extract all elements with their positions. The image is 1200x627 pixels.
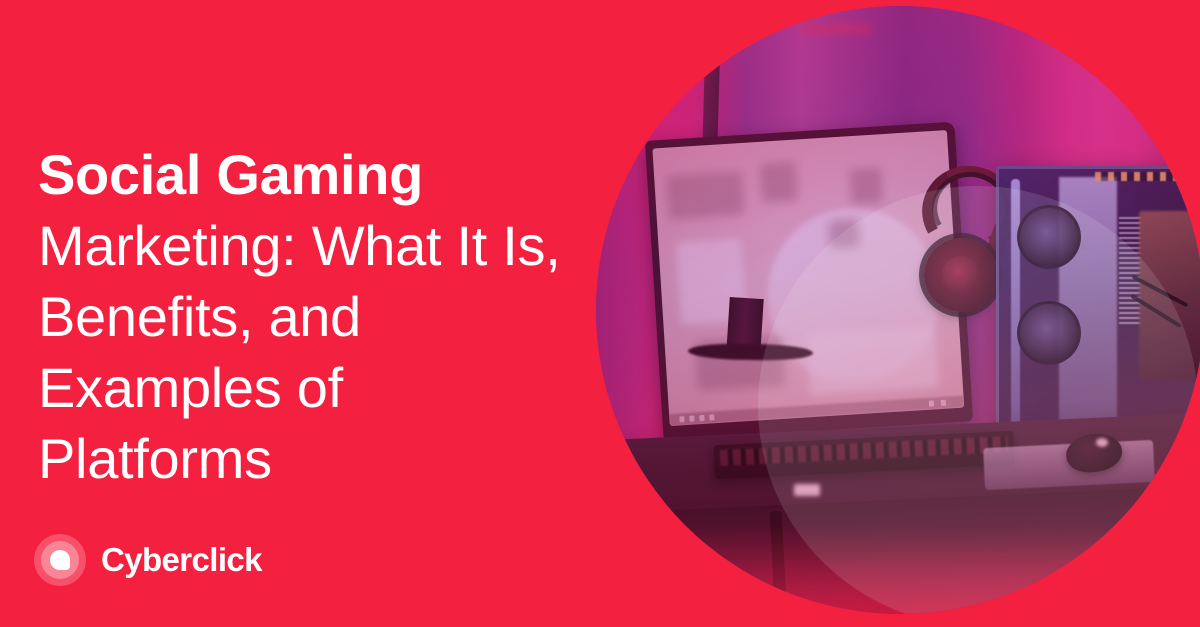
logo-cursor-dot — [50, 550, 70, 570]
cyberclick-logo[interactable]: Cyberclick — [34, 534, 262, 586]
cyberclick-circle-mark-icon — [34, 534, 86, 586]
gaming-setup-photo — [596, 6, 1200, 614]
brand-name: Cyberclick — [101, 541, 262, 579]
page-title: Social Gaming Marketing: What It Is, Ben… — [38, 139, 578, 494]
hero-photo-circle — [596, 6, 1200, 614]
page-title-rest: Marketing: What It Is, Benefits, and Exa… — [38, 214, 560, 490]
page-title-bold: Social Gaming — [38, 143, 423, 206]
blog-header-banner: Social Gaming Marketing: What It Is, Ben… — [0, 0, 1200, 627]
decorative-soft-circle — [758, 186, 1198, 614]
